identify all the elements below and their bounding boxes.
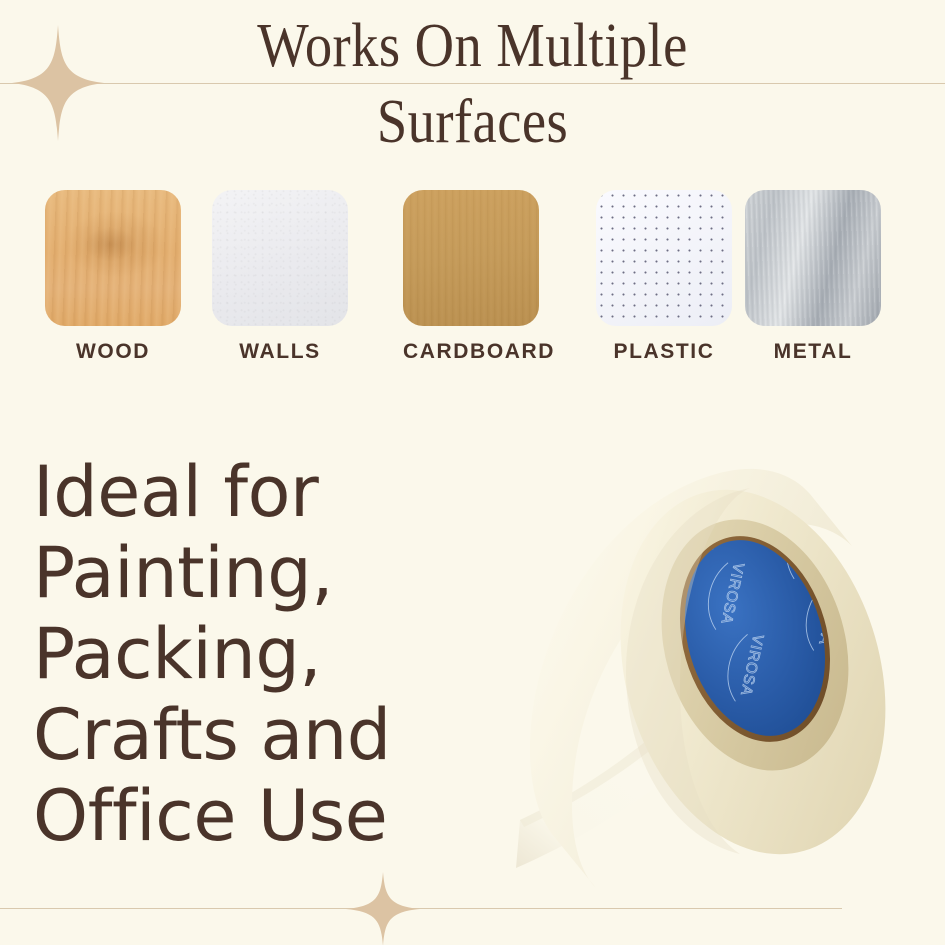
page-title-line-2: Surfaces xyxy=(57,84,889,160)
product-image-tape-roll: VIROSA VIROSA VIROSA VIROSA VIROSA xyxy=(500,440,945,900)
surface-swatch-row: WOOD WALLS CARDBOARD PLASTIC METAL xyxy=(0,190,945,370)
plastic-swatch-icon xyxy=(596,190,732,326)
surface-label-metal: METAL xyxy=(745,340,881,364)
cardboard-swatch-icon xyxy=(403,190,539,326)
surface-item-walls[interactable]: WALLS xyxy=(212,190,348,364)
headline-line-5: Office Use xyxy=(33,776,503,857)
surface-item-metal[interactable]: METAL xyxy=(745,190,881,364)
page-title-line-1: Works On Multiple xyxy=(57,8,889,84)
headline-line-4: Crafts and xyxy=(33,695,503,776)
headline-line-2: Painting, xyxy=(33,533,503,614)
surface-label-walls: WALLS xyxy=(212,340,348,364)
headline-line-1: Ideal for xyxy=(33,452,503,533)
headline-line-3: Packing, xyxy=(33,614,503,695)
surface-label-wood: WOOD xyxy=(45,340,181,364)
surface-item-wood[interactable]: WOOD xyxy=(45,190,181,364)
surface-item-plastic[interactable]: PLASTIC xyxy=(596,190,732,364)
divider-line-bottom xyxy=(0,908,842,909)
surface-label-cardboard: CARDBOARD xyxy=(403,340,539,364)
walls-swatch-icon xyxy=(212,190,348,326)
surface-item-cardboard[interactable]: CARDBOARD xyxy=(403,190,539,364)
page-title: Works On Multiple Surfaces xyxy=(57,8,889,160)
wood-swatch-icon xyxy=(45,190,181,326)
metal-swatch-icon xyxy=(745,190,881,326)
surface-label-plastic: PLASTIC xyxy=(596,340,732,364)
poster-canvas: Works On Multiple Surfaces WOOD WALLS CA… xyxy=(0,0,945,945)
headline-block: Ideal for Painting, Packing, Crafts and … xyxy=(33,452,503,857)
